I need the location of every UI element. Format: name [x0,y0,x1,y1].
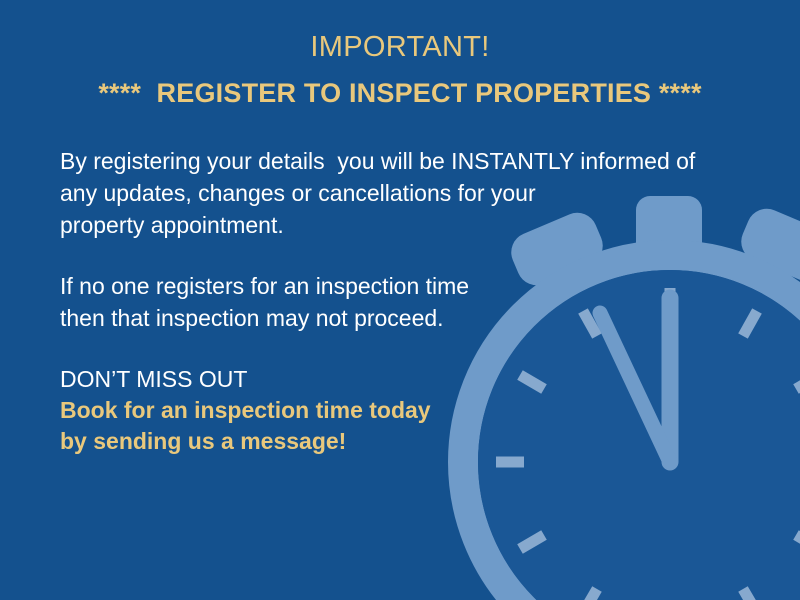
cta-send-message: by sending us a message! [60,426,720,457]
paragraph-spacer-2 [60,334,720,364]
paragraph-1-line-1: By registering your details you will be … [60,145,720,177]
cta-book-inspection: Book for an inspection time today [60,395,720,426]
promo-slide: IMPORTANT! **** REGISTER TO INSPECT PROP… [0,0,800,600]
paragraph-spacer-1 [60,241,720,270]
paragraph-1-line-3: property appointment. [60,209,720,241]
heading-important: IMPORTANT! [0,28,800,66]
cta-dont-miss-out: DON’T MISS OUT [60,364,720,395]
paragraph-2-line-1: If no one registers for an inspection ti… [60,270,720,302]
body-copy-block: By registering your details you will be … [60,145,720,457]
heading-register-to-inspect-properties: **** REGISTER TO INSPECT PROPERTIES **** [0,73,800,113]
paragraph-1-line-2: any updates, changes or cancellations fo… [60,177,720,209]
paragraph-2-line-2: then that inspection may not proceed. [60,302,720,334]
headings-block: IMPORTANT! **** REGISTER TO INSPECT PROP… [0,28,800,113]
clock-right-lug [735,203,800,288]
